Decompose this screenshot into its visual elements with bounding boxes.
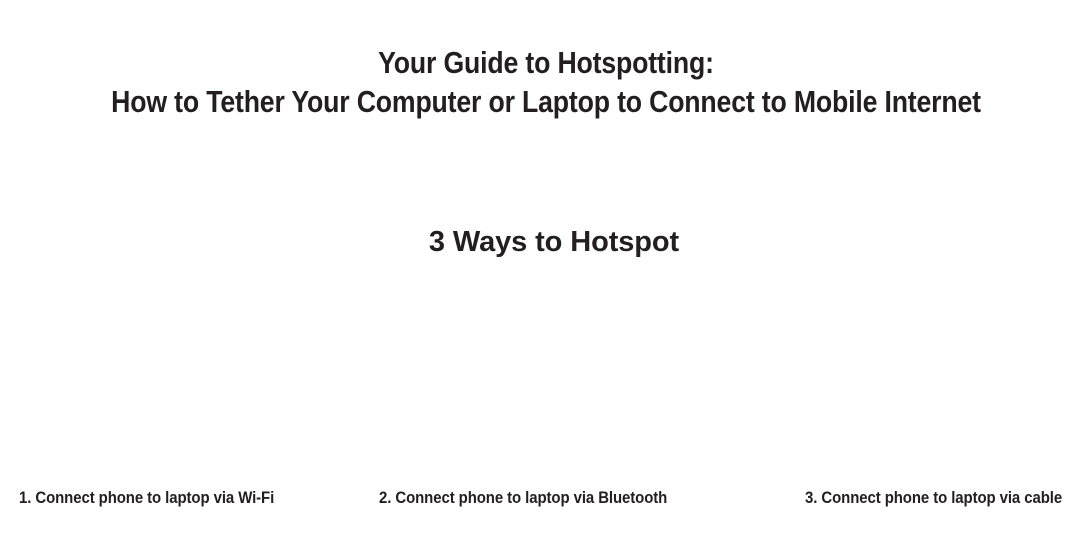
- illustration-bluetooth: [360, 282, 720, 478]
- page-title: Your Guide to Hotspotting: How to Tether…: [0, 44, 1080, 121]
- illustration-row: [0, 282, 1080, 478]
- illustration-wifi: [0, 282, 360, 478]
- step-caption-wifi: 1. Connect phone to laptop via Wi-Fi: [19, 486, 274, 510]
- title-line-1: Your Guide to Hotspotting:: [76, 44, 1015, 82]
- title-line-2: How to Tether Your Computer or Laptop to…: [76, 82, 1015, 121]
- illustration-cable: [720, 282, 1080, 478]
- section-heading: 3 Ways to Hotspot: [0, 224, 1080, 260]
- step-caption-bluetooth: 2. Connect phone to laptop via Bluetooth: [379, 486, 667, 510]
- step-caption-row: 1. Connect phone to laptop via Wi-Fi 2. …: [0, 486, 1080, 512]
- infographic-page: Your Guide to Hotspotting: How to Tether…: [0, 0, 1080, 552]
- step-caption-cable: 3. Connect phone to laptop via cable: [805, 486, 1062, 510]
